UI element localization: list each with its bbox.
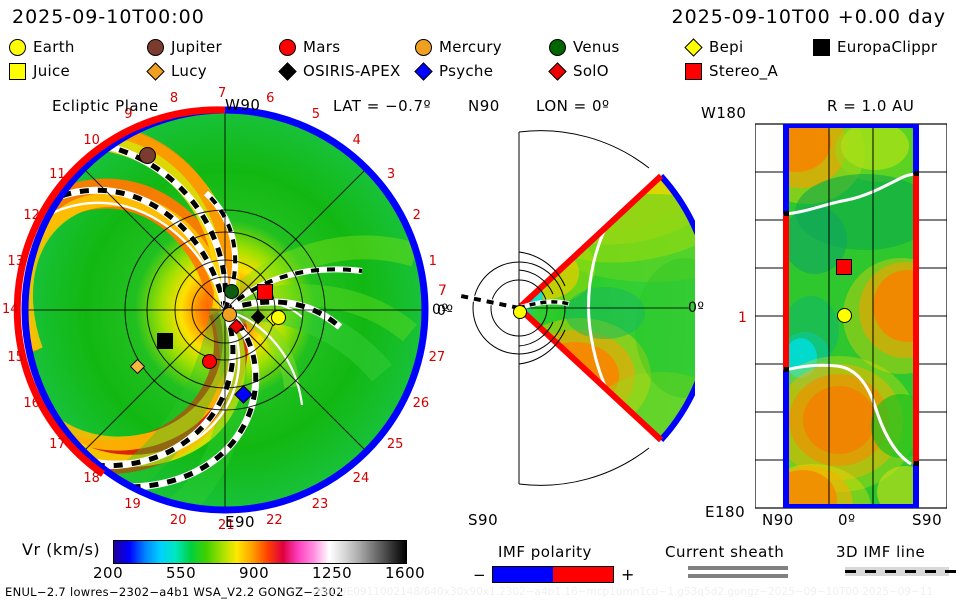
colorbar-tick-label: 900 <box>239 564 269 582</box>
venus-marker-icon <box>549 39 566 56</box>
legend-item-jupiter[interactable]: Jupiter <box>146 38 222 56</box>
legend-item-label: Mars <box>303 38 340 56</box>
ecliptic-hour-label: 15 <box>7 350 24 365</box>
ecliptic-hour-label: 13 <box>7 254 24 269</box>
radial-title: R = 1.0 AU <box>827 97 914 115</box>
europaclippr-marker-icon[interactable] <box>157 330 173 349</box>
jupiter-marker-icon[interactable] <box>139 145 156 164</box>
ecliptic-hour-label: 19 <box>124 497 141 512</box>
legend-item-stereo-a[interactable]: Stereo_A <box>684 62 778 80</box>
legend-item-label: Lucy <box>171 62 207 80</box>
colorbar-label: Vr (km/s) <box>22 540 100 559</box>
lucy-marker-icon[interactable] <box>132 356 143 375</box>
imf-polarity-plus: + <box>621 565 634 584</box>
footer-model-info: ENUL−2.7 lowres−2302−a4b1 WSA_V2.2 GONGZ… <box>5 585 344 599</box>
stereo-a-marker-icon[interactable] <box>257 281 273 300</box>
ecliptic-hour-label: 2 <box>413 208 421 223</box>
ecliptic-hour-label: 17 <box>49 437 66 452</box>
legend-item-mercury[interactable]: Mercury <box>414 38 502 56</box>
ecliptic-top-label: W90 <box>225 96 260 114</box>
ecliptic-hour-label: 1 <box>429 254 437 269</box>
marker-slot <box>684 63 702 79</box>
lucy-marker-icon <box>146 62 164 80</box>
marker-slot <box>548 39 566 55</box>
ecliptic-hour-label: 24 <box>353 471 370 486</box>
ecliptic-bottom-label: E90 <box>225 513 255 531</box>
legend-item-label: Venus <box>573 38 620 56</box>
footer-watermark: UNIQUE0911002148/640x30x90x1.2302−a4b1.1… <box>312 586 933 598</box>
colorbar[interactable] <box>113 540 407 564</box>
meridional-bottom-label: S90 <box>468 511 498 529</box>
meridional-top-label: N90 <box>468 97 500 115</box>
radial-top-left-label: W180 <box>701 104 746 122</box>
marker-slot <box>548 63 566 79</box>
marker-slot <box>414 39 432 55</box>
venus-marker-icon[interactable] <box>224 281 239 300</box>
mercury-marker-icon <box>415 39 432 56</box>
ecliptic-hour-label: 20 <box>170 513 187 528</box>
marker-slot <box>146 63 164 79</box>
ecliptic-hour-label: 8 <box>170 91 178 106</box>
ecliptic-title: Ecliptic Plane <box>52 97 159 115</box>
imf-3d-swatch <box>845 567 949 576</box>
ecliptic-hour-label: 23 <box>312 497 329 512</box>
ecliptic-hour-label: 5 <box>312 107 320 122</box>
legend-item-lucy[interactable]: Lucy <box>146 62 207 80</box>
ecliptic-hour-label: 18 <box>83 471 100 486</box>
ecliptic-hour-label: 11 <box>49 167 66 182</box>
imf-3d-title: 3D IMF line <box>836 543 925 561</box>
ecliptic-hour-label: 27 <box>429 350 446 365</box>
radial-y-tick-label: 1 <box>738 310 747 326</box>
legend-item-europaclippr[interactable]: EuropaClippr <box>812 38 937 56</box>
radial-x-label: 0º <box>838 511 856 529</box>
earth-marker-icon <box>9 39 26 56</box>
radial-panel[interactable] <box>755 120 947 512</box>
meridional-plot <box>455 118 695 513</box>
ecliptic-lat-label: LAT = −0.7º <box>333 97 431 115</box>
legend-item-label: Jupiter <box>171 38 222 56</box>
legend-item-earth[interactable]: Earth <box>8 38 75 56</box>
legend-item-label: Mercury <box>439 38 502 56</box>
ecliptic-hour-label: 14 <box>2 302 19 317</box>
colorbar-tick-label: 200 <box>93 564 123 582</box>
imf-dash-segment <box>905 570 916 573</box>
marker-slot <box>8 39 26 55</box>
legend-item-label: Bepi <box>709 38 743 56</box>
legend-item-juice[interactable]: Juice <box>8 62 70 80</box>
ecliptic-hour-label: 4 <box>353 133 361 148</box>
current-sheath-swatch-bottom <box>688 574 788 578</box>
radial-x-label: N90 <box>762 511 794 529</box>
ecliptic-hour-label: 16 <box>23 396 40 411</box>
legend-item-venus[interactable]: Venus <box>548 38 620 56</box>
meridional-origin-label: 0º <box>437 303 454 319</box>
ecliptic-hour-label: 12 <box>23 208 40 223</box>
legend-item-label: Stereo_A <box>709 62 778 80</box>
juice-marker-icon <box>9 63 26 80</box>
marker-slot <box>684 39 702 55</box>
legend-item-bepi[interactable]: Bepi <box>684 38 743 56</box>
mars-marker-icon[interactable] <box>202 351 217 370</box>
legend-item-label: Juice <box>33 62 70 80</box>
europaclippr-marker-icon <box>813 39 830 56</box>
psyche-marker-icon[interactable] <box>237 384 250 403</box>
timestamp-right: 2025-09-10T00 +0.00 day <box>672 6 946 28</box>
legend-item-osiris-apex[interactable]: OSIRIS-APEX <box>278 62 401 80</box>
imf-polarity-minus: − <box>473 566 486 584</box>
current-sheath-title: Current sheath <box>665 543 784 561</box>
legend-item-label: Psyche <box>439 62 493 80</box>
solo-marker-icon[interactable] <box>231 316 242 335</box>
timestamp-left: 2025-09-10T00:00 <box>12 6 205 28</box>
legend-item-label: EuropaClippr <box>837 38 937 56</box>
legend-item-solo[interactable]: SolO <box>548 62 609 80</box>
marker-slot <box>812 39 830 55</box>
meridional-panel[interactable] <box>455 118 695 513</box>
marker-slot <box>8 63 26 79</box>
jupiter-marker-icon <box>147 39 164 56</box>
mars-marker-icon <box>279 39 296 56</box>
bepi-marker-icon <box>684 38 702 56</box>
osiris-apex-marker-icon <box>278 62 296 80</box>
imf-polarity-bar <box>492 566 614 583</box>
ecliptic-hour-label: 3 <box>387 167 395 182</box>
ecliptic-panel[interactable]: 1234567891011121314151617181920212223242… <box>10 105 440 525</box>
imf-polarity-title: IMF polarity <box>498 543 592 561</box>
earth-marker-icon[interactable] <box>513 301 527 320</box>
legend-item-label: SolO <box>573 62 609 80</box>
imf-dash-segment <box>865 570 876 573</box>
imf-dash-segment <box>925 570 936 573</box>
stereo-a-marker-icon[interactable] <box>836 256 852 275</box>
ecliptic-hour-label: 25 <box>387 437 404 452</box>
ecliptic-hour-label: 10 <box>83 133 100 148</box>
imf-dash-segment <box>845 570 856 573</box>
colorbar-tick-label: 1250 <box>312 564 352 582</box>
ecliptic-hour-label: 22 <box>266 513 283 528</box>
meridional-hour-label: 7 <box>438 283 447 299</box>
earth-marker-icon[interactable] <box>837 305 852 324</box>
colorbar-tick-label: 550 <box>166 564 196 582</box>
imf-dash-segment <box>945 570 956 573</box>
radial-bottom-left-label: E180 <box>705 503 745 521</box>
ecliptic-hour-label: 6 <box>266 91 274 106</box>
marker-slot <box>414 63 432 79</box>
psyche-marker-icon <box>414 62 432 80</box>
earth-marker-icon[interactable] <box>271 307 286 326</box>
marker-slot <box>146 39 164 55</box>
polarity-positive-swatch <box>553 567 613 582</box>
current-sheath-swatch-top <box>688 566 788 570</box>
stereo-a-marker-icon <box>685 63 702 80</box>
imf-dash-segment <box>885 570 896 573</box>
osiris-apex-marker-icon[interactable] <box>253 306 263 325</box>
marker-slot <box>278 63 296 79</box>
marker-slot <box>278 39 296 55</box>
ecliptic-hour-label: 26 <box>413 396 430 411</box>
legend-item-mars[interactable]: Mars <box>278 38 340 56</box>
solo-marker-icon <box>548 62 566 80</box>
legend-item-label: OSIRIS-APEX <box>303 62 401 80</box>
meridional-right-label: 0º <box>688 300 705 316</box>
legend-item-psyche[interactable]: Psyche <box>414 62 493 80</box>
polarity-negative-swatch <box>493 567 553 582</box>
meridional-lon-label: LON = 0º <box>536 97 610 115</box>
legend-item-label: Earth <box>33 38 75 56</box>
colorbar-tick-label: 1600 <box>385 564 425 582</box>
radial-x-label: S90 <box>912 511 942 529</box>
